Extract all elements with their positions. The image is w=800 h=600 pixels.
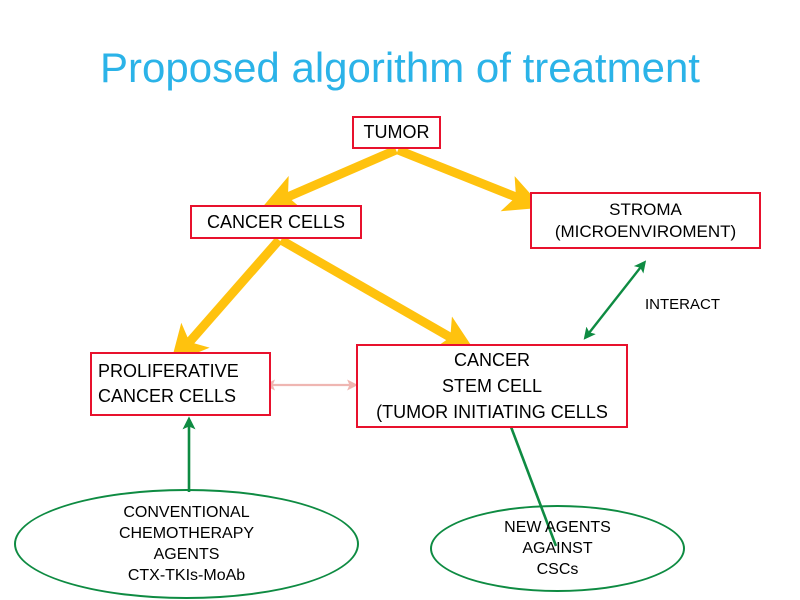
arrow-interact-double	[589, 263, 644, 333]
node-csc-line3: (TUMOR INITIATING CELLS	[376, 399, 608, 425]
node-cancer-stem-cell[interactable]: CANCER STEM CELL (TUMOR INITIATING CELLS	[356, 344, 628, 428]
node-conventional-line1: CONVENTIONAL	[123, 502, 249, 523]
arrow-tumor-to-stroma	[398, 150, 521, 199]
node-cancer-cells[interactable]: CANCER CELLS	[190, 205, 362, 239]
node-stroma[interactable]: STROMA (MICROENVIROMENT)	[530, 192, 761, 249]
arrow-tumor-to-cancer-cells	[283, 150, 396, 199]
node-tumor[interactable]: TUMOR	[352, 116, 441, 149]
node-new-agents-line2: AGAINST	[522, 538, 592, 559]
arrow-cancer-cells-to-proliferative	[186, 240, 279, 346]
node-conventional-line4: CTX-TKIs-MoAb	[128, 565, 245, 586]
node-csc-line2: STEM CELL	[442, 373, 542, 399]
node-new-agents-line3: CSCs	[537, 559, 579, 580]
node-tumor-label: TUMOR	[364, 122, 430, 143]
node-proliferative-cancer-cells[interactable]: PROLIFERATIVE CANCER CELLS	[90, 352, 271, 416]
node-conventional-line3: AGENTS	[154, 544, 220, 565]
slide-canvas: Proposed algorithm of treatment	[0, 0, 800, 600]
node-conventional-chemotherapy[interactable]: CONVENTIONAL CHEMOTHERAPY AGENTS CTX-TKI…	[14, 489, 359, 599]
node-stroma-line2: (MICROENVIROMENT)	[555, 221, 736, 243]
node-proliferative-line1: PROLIFERATIVE	[98, 359, 239, 384]
node-conventional-line2: CHEMOTHERAPY	[119, 523, 254, 544]
node-proliferative-line2: CANCER CELLS	[98, 384, 236, 409]
page-title: Proposed algorithm of treatment	[0, 42, 800, 94]
node-stroma-line1: STROMA	[609, 199, 682, 221]
node-new-agents-against-cscs[interactable]: NEW AGENTS AGAINST CSCs	[430, 505, 685, 592]
arrow-cancer-cells-to-cancer-stem-cell	[281, 240, 455, 340]
node-cancer-cells-label: CANCER CELLS	[207, 212, 345, 233]
label-interact: INTERACT	[645, 296, 720, 313]
node-csc-line1: CANCER	[454, 347, 530, 373]
node-new-agents-line1: NEW AGENTS	[504, 517, 611, 538]
